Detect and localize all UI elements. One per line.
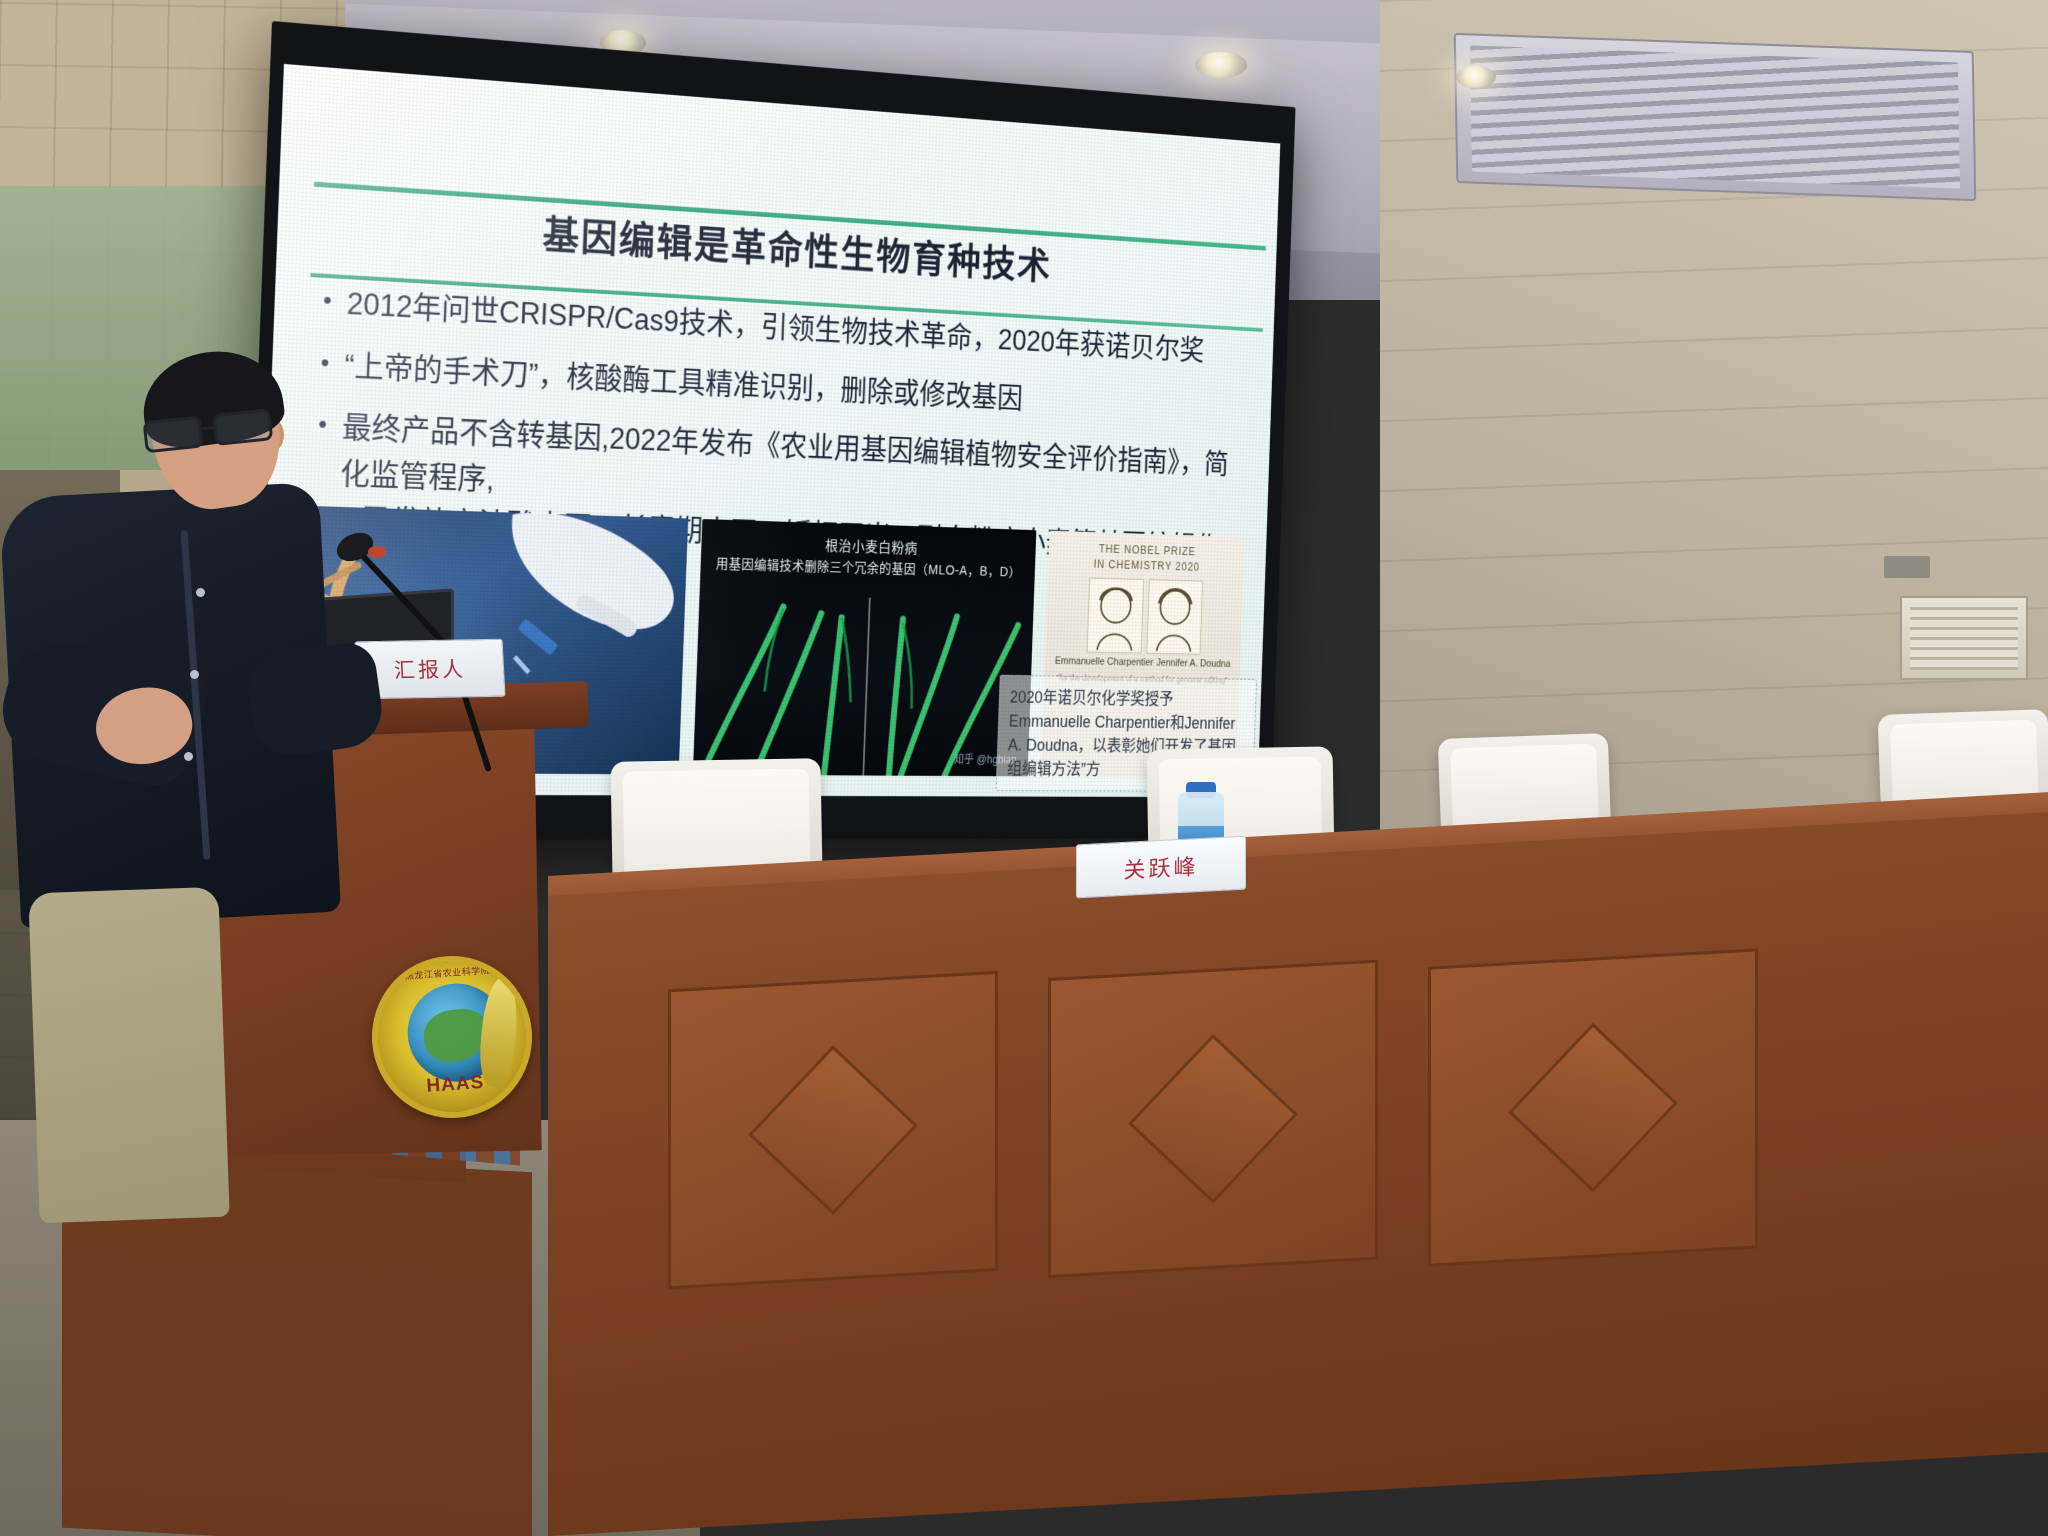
laureate-portrait	[1146, 579, 1203, 654]
panel-desk	[548, 812, 2048, 1536]
presenter-shirt-button	[190, 670, 199, 679]
presenter-right-arm	[243, 639, 386, 760]
panel-nameplate-text: 关跃峰	[1123, 849, 1198, 885]
bullet-marker: •	[322, 280, 332, 322]
wheat-powdery-mildew-photo: 根治小麦白粉病 用基因编辑技术删除三个冗余的基因（MLO-A，B，D）	[693, 519, 1037, 776]
laureate-name-2: Jennifer A. Doudna	[1156, 657, 1230, 669]
laureate-portrait	[1087, 577, 1144, 653]
wall-sign	[1884, 556, 1930, 578]
presenter-person	[0, 352, 430, 1212]
glasses-right-lens	[212, 408, 273, 446]
gloved-hand-syringe-graphic	[497, 508, 689, 696]
wall-equipment-box	[1900, 596, 2028, 680]
laureate-names: Emmanuelle Charpentier Jennifer A. Doudn…	[1045, 655, 1241, 670]
laureate-name-1: Emmanuelle Charpentier	[1055, 655, 1154, 668]
conference-photo-scene: 基因编辑是革命性生物育种技术 • 2012年问世CRISPR/Cas9技术，引领…	[0, 0, 2048, 1536]
wheat-stalks-graphic	[693, 519, 1037, 776]
presenter-shirt-button	[196, 588, 205, 597]
glasses-left-lens	[143, 415, 204, 453]
ceiling-downlight	[1456, 66, 1496, 88]
nobel-header: THE NOBEL PRIZE IN CHEMISTRY 2020	[1048, 531, 1245, 577]
presenter-trousers	[28, 887, 229, 1223]
laureate-portraits	[1045, 576, 1243, 655]
presenter-shirt-button	[184, 752, 193, 761]
panel-nameplate: 关跃峰	[1076, 836, 1246, 899]
air-conditioner-vent	[1454, 33, 1977, 201]
ceiling-downlight	[1195, 52, 1247, 78]
